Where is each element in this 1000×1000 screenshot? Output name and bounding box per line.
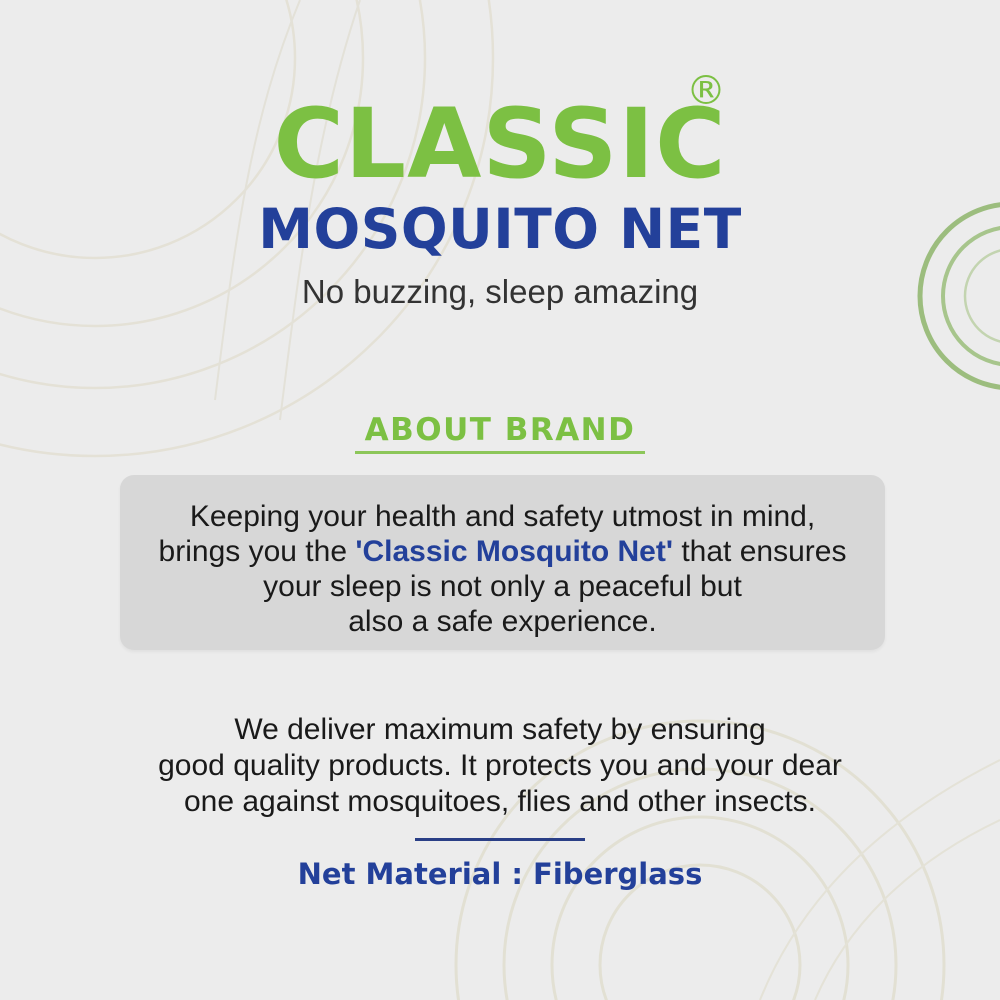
brand-subtitle: MOSQUITO NET — [0, 200, 1000, 258]
callout-line-4: also a safe experience. — [348, 605, 657, 638]
about-brand-callout-box: Keeping your health and safety utmost in… — [120, 475, 885, 650]
about-brand-heading: ABOUT BRAND — [0, 412, 1000, 448]
description-line-3: one against mosquitoes, flies and other … — [184, 785, 816, 818]
poster-canvas: CLASSIC ® MOSQUITO NET No buzzing, sleep… — [0, 0, 1000, 1000]
description-line-2: good quality products. It protects you a… — [158, 749, 842, 782]
net-material-label: Net Material : Fiberglass — [0, 855, 1000, 893]
brand-name: CLASSIC — [0, 96, 1000, 192]
brand-description: We deliver maximum safety by ensuring go… — [0, 712, 1000, 820]
about-brand-callout-text: Keeping your health and safety utmost in… — [120, 499, 885, 639]
deco-ring-bottom-2 — [552, 817, 848, 1000]
callout-line-2-prefix: brings you the — [159, 535, 356, 568]
callout-line-2-suffix: that ensures — [673, 535, 846, 568]
registered-trademark-icon: ® — [686, 72, 724, 110]
description-line-1: We deliver maximum safety by ensuring — [234, 713, 765, 746]
footer-divider — [415, 838, 585, 841]
callout-line-3: your sleep is not only a peaceful but — [263, 570, 742, 603]
heading-underline — [355, 451, 645, 454]
brand-tagline: No buzzing, sleep amazing — [0, 272, 1000, 312]
deco-sweep-2 — [815, 820, 1000, 1000]
callout-line-1: Keeping your health and safety utmost in… — [190, 500, 815, 533]
callout-brand-highlight: 'Classic Mosquito Net' — [355, 535, 673, 568]
